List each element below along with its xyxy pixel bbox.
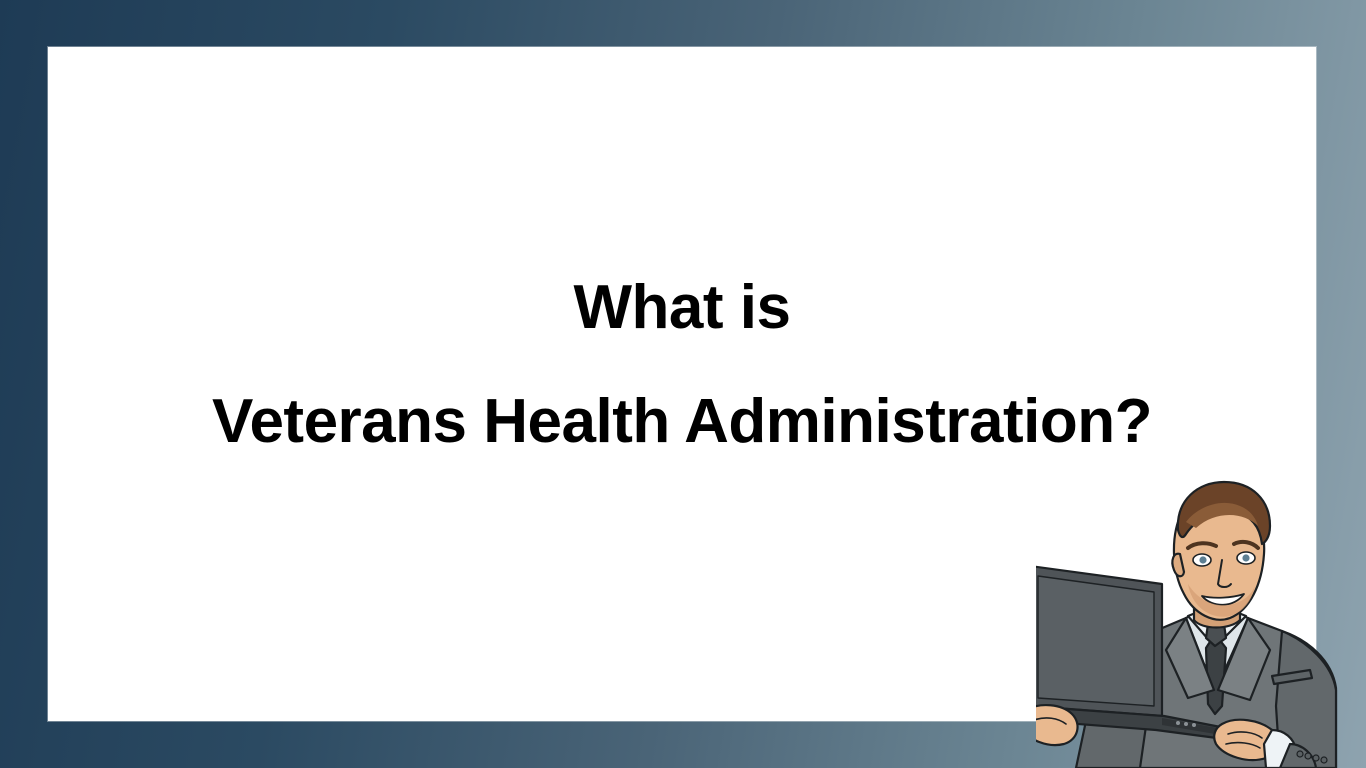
title-line-1: What is xyxy=(48,277,1316,339)
page-title: What is Veterans Health Administration? xyxy=(48,277,1316,453)
content-card: What is Veterans Health Administration? xyxy=(48,47,1316,721)
title-line-2: Veterans Health Administration? xyxy=(48,391,1316,453)
slide-canvas: What is Veterans Health Administration? xyxy=(0,0,1366,768)
